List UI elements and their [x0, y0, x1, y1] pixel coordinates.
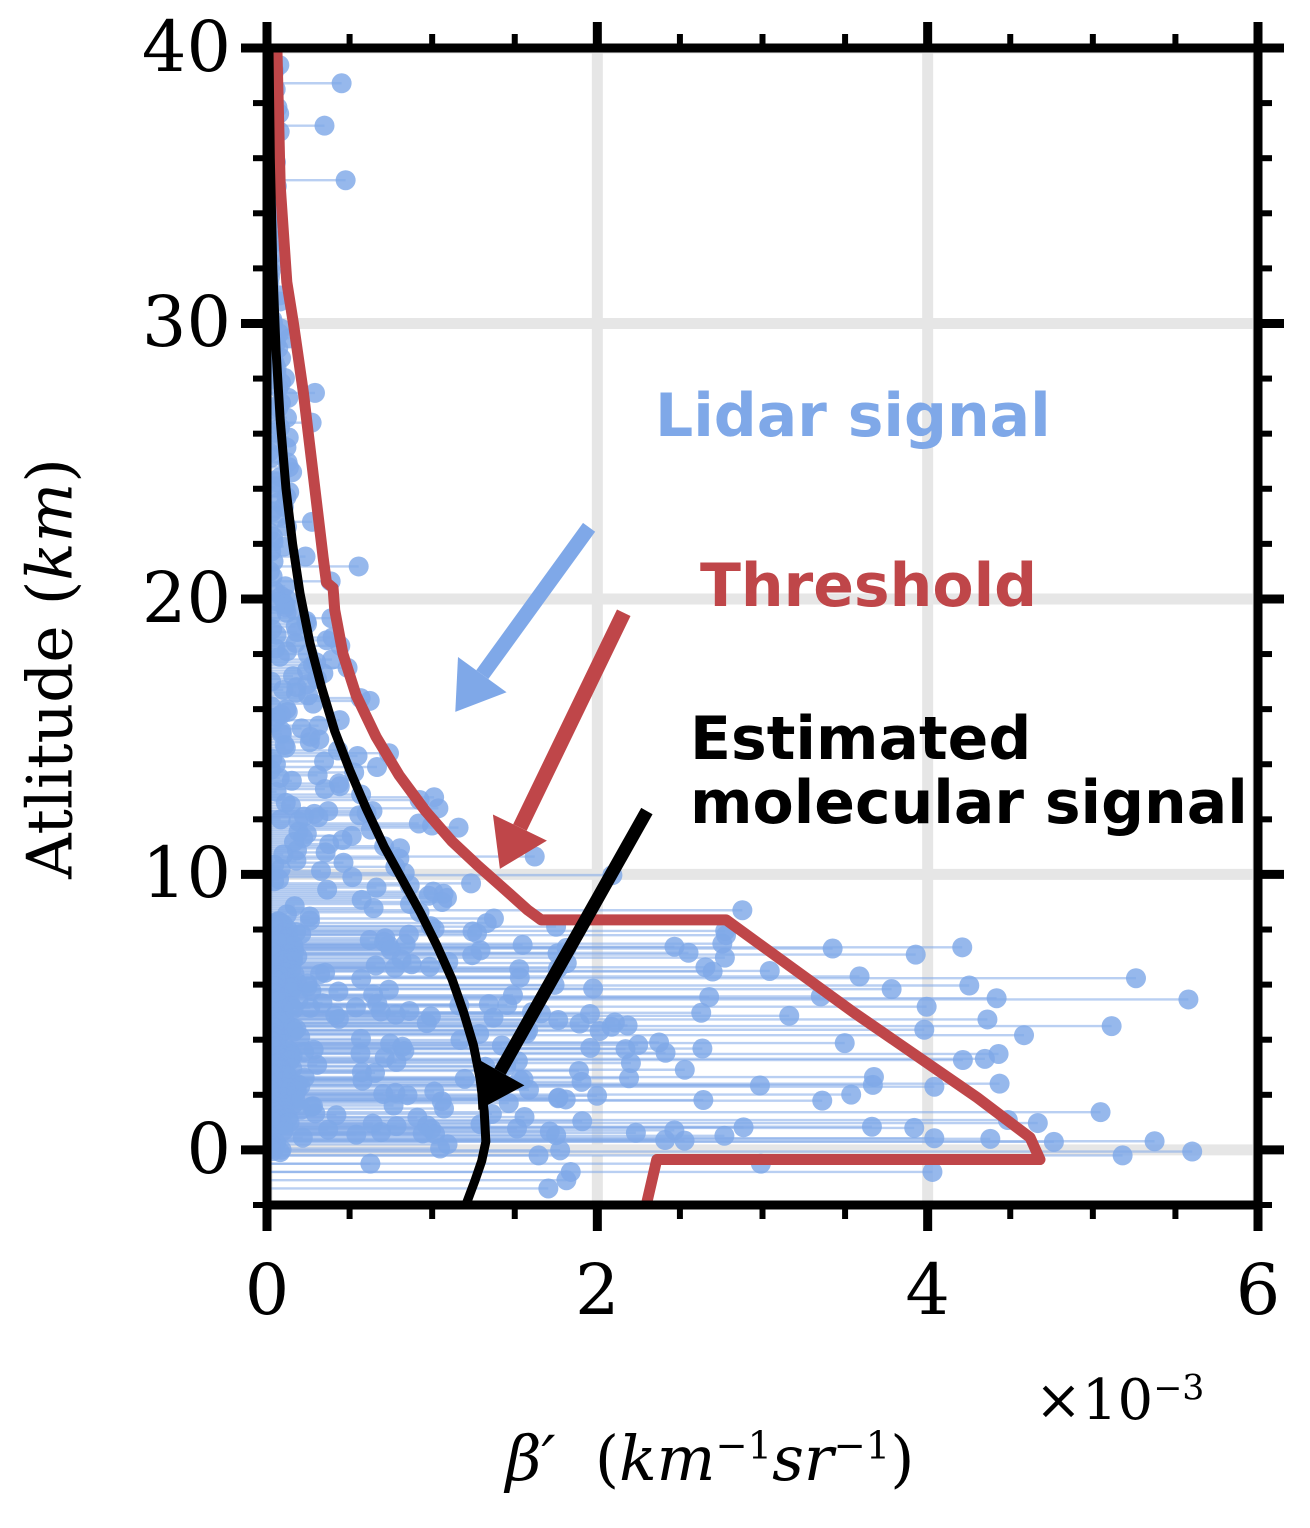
lidar-point [1044, 1132, 1064, 1152]
lidar-point [510, 968, 530, 988]
lidar-point [692, 1039, 712, 1059]
lidar-point [953, 1050, 973, 1070]
lidar-point [656, 1043, 676, 1063]
lidar-point [342, 867, 362, 887]
lidar-point [386, 1005, 406, 1025]
lidar-point [350, 1043, 370, 1063]
lidar-point [332, 73, 352, 93]
lidar-point [750, 1075, 770, 1095]
annotation-molecular-signal: Estimated molecular signal [690, 708, 1248, 835]
lidar-point [548, 1010, 568, 1030]
lidar-point [626, 1123, 646, 1143]
lidar-point [835, 1033, 855, 1053]
lidar-point [384, 1095, 404, 1115]
lidar-point [779, 1006, 799, 1026]
lidar-point [293, 1128, 313, 1148]
lidar-point [823, 939, 843, 959]
x-axis-multiplier: ×10−3 [1035, 1368, 1204, 1433]
lidar-point [1126, 968, 1146, 988]
x-tick-label: 6 [1188, 1255, 1310, 1325]
lidar-point [507, 1119, 527, 1139]
lidar-point [714, 1126, 734, 1146]
lidar-point [732, 900, 752, 920]
x-axis-label: β′ (km−1sr−1) [430, 1422, 990, 1495]
lidar-point [513, 935, 533, 955]
lidar-point [300, 732, 320, 752]
lidar-point [975, 1049, 995, 1069]
lidar-point [318, 1120, 338, 1140]
lidar-point [385, 958, 405, 978]
lidar-point [703, 962, 723, 982]
y-tick-label: 30 [61, 287, 231, 357]
lidar-point [952, 937, 972, 957]
lidar-point [434, 1099, 454, 1119]
lidar-point [572, 1111, 592, 1131]
lidar-point [904, 1118, 924, 1138]
lidar-point [906, 945, 926, 965]
lidar-point [1178, 989, 1198, 1009]
lidar-point [311, 861, 331, 881]
lidar-point [346, 997, 366, 1017]
lidar-point [317, 880, 337, 900]
lidar-point [977, 1009, 997, 1029]
lidar-point [675, 1060, 695, 1080]
y-tick-label: 0 [61, 1114, 231, 1184]
lidar-point [538, 1178, 558, 1198]
lidar-point [315, 116, 335, 136]
lidar-point [315, 779, 335, 799]
lidar-point [346, 1125, 366, 1145]
lidar-point [583, 979, 603, 999]
lidar-point [1113, 1145, 1133, 1165]
y-tick-label: 20 [61, 563, 231, 633]
lidar-point [980, 1129, 1000, 1149]
lidar-point [619, 1068, 639, 1088]
lidar-point [924, 1128, 944, 1148]
annotation-lidar-signal: Lidar signal [655, 385, 1051, 449]
lidar-point [572, 1072, 592, 1092]
lidar-point [329, 1009, 349, 1029]
lidar-point [371, 1122, 391, 1142]
lidar-point [351, 969, 371, 989]
lidar-point [349, 556, 369, 576]
lidar-point [917, 997, 937, 1017]
lidar-point [386, 1052, 406, 1072]
lidar-point [1014, 1025, 1034, 1045]
lidar-point [556, 1089, 576, 1109]
lidar-point [655, 1130, 675, 1150]
lidar-point [360, 1154, 380, 1174]
lidar-point [587, 1086, 607, 1106]
lidar-point [863, 1075, 883, 1095]
lidar-point [529, 1145, 549, 1165]
lidar-point [550, 1140, 570, 1160]
lidar-point [519, 1080, 539, 1100]
lidar-point [270, 1142, 290, 1162]
figure-canvas: Atlitude (km) β′ (km−1sr−1) ×10−3 Lidar … [0, 0, 1310, 1528]
lidar-point [420, 957, 440, 977]
lidar-point [1102, 1016, 1122, 1036]
lidar-point [364, 898, 384, 918]
lidar-point [675, 1131, 695, 1151]
lidar-point [417, 1013, 437, 1033]
lidar-point [924, 1077, 944, 1097]
lidar-point [1028, 1113, 1048, 1133]
y-tick-label: 40 [61, 12, 231, 82]
lidar-point [691, 1003, 711, 1023]
lidar-point [402, 954, 422, 974]
lidar-point [305, 1103, 325, 1123]
lidar-point [760, 961, 780, 981]
lidar-point [461, 873, 481, 893]
lidar-point [959, 976, 979, 996]
lidar-point [570, 1014, 590, 1034]
lidar-point [308, 807, 328, 827]
lidar-point [462, 945, 482, 965]
lidar-point [1182, 1142, 1202, 1162]
lidar-point [841, 1085, 861, 1105]
y-tick-label: 10 [61, 838, 231, 908]
lidar-point [580, 1038, 600, 1058]
lidar-point [1091, 1102, 1111, 1122]
lidar-point [316, 842, 336, 862]
lidar-point [271, 809, 291, 829]
lidar-point [882, 979, 902, 999]
x-tick-label: 4 [858, 1255, 998, 1325]
lidar-point [556, 1170, 576, 1190]
lidar-point [987, 988, 1007, 1008]
lidar-point [432, 892, 452, 912]
lidar-point [353, 1071, 373, 1091]
lidar-point [914, 1020, 934, 1040]
lidar-point [483, 1008, 503, 1028]
lidar-point [430, 1139, 450, 1159]
lidar-point [679, 943, 699, 963]
lidar-point [812, 1091, 832, 1111]
lidar-point [455, 1069, 475, 1089]
lidar-point [862, 1117, 882, 1137]
x-tick-label: 2 [527, 1255, 667, 1325]
lidar-point [990, 1074, 1010, 1094]
lidar-point [734, 1117, 754, 1137]
x-tick-label: 0 [197, 1255, 337, 1325]
lidar-point [850, 966, 870, 986]
lidar-point [590, 1021, 610, 1041]
lidar-point [1145, 1131, 1165, 1151]
lidar-point [693, 1090, 713, 1110]
lidar-point [467, 923, 487, 943]
annotation-threshold: Threshold [700, 555, 1037, 619]
lidar-point [336, 170, 356, 190]
lidar-point [270, 647, 290, 667]
